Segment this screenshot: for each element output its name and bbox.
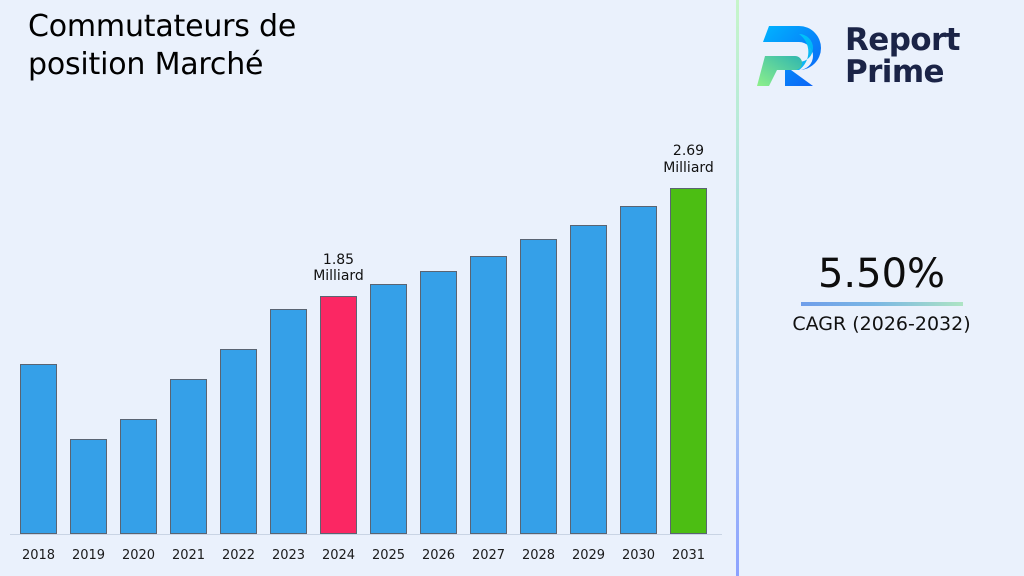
- report-prime-logo[interactable]: Report Prime: [755, 14, 1017, 98]
- bar-2027[interactable]: [470, 256, 507, 534]
- bar-2029[interactable]: [570, 225, 607, 534]
- cagr-divider-rule: [801, 302, 963, 306]
- bar-2030[interactable]: [620, 206, 657, 534]
- bar-annotation-2031: 2.69 Milliard: [629, 143, 749, 175]
- bar-2026[interactable]: [420, 271, 457, 534]
- cagr-value: 5.50%: [739, 252, 1024, 296]
- bar-chart: 2018201920202021202220232024202520262027…: [0, 120, 737, 576]
- bar-2022[interactable]: [220, 349, 257, 534]
- bar-2025[interactable]: [370, 284, 407, 534]
- page-title: Commutateurs de position Marché: [28, 8, 428, 85]
- bar-2031[interactable]: [670, 188, 707, 535]
- bar-2024[interactable]: [320, 296, 357, 534]
- bar-2021[interactable]: [170, 379, 207, 534]
- x-tick-2031: 2031: [659, 548, 719, 563]
- brand-panel: Report Prime 5.50% CAGR (2026-2032): [739, 0, 1024, 576]
- chart-panel: Commutateurs de position Marché 20182019…: [0, 0, 737, 576]
- cagr-caption: CAGR (2026-2032): [739, 313, 1024, 335]
- bar-2028[interactable]: [520, 239, 557, 534]
- x-axis-line: [10, 534, 722, 535]
- bar-2023[interactable]: [270, 309, 307, 534]
- bar-2019[interactable]: [70, 439, 107, 534]
- bar-2020[interactable]: [120, 419, 157, 534]
- report-prime-r-mark-icon: [755, 20, 833, 92]
- logo-wordmark: Report Prime: [845, 24, 960, 88]
- cagr-block: 5.50% CAGR (2026-2032): [739, 252, 1024, 335]
- bar-annotation-2024: 1.85 Milliard: [279, 252, 399, 284]
- bar-2018[interactable]: [20, 364, 57, 534]
